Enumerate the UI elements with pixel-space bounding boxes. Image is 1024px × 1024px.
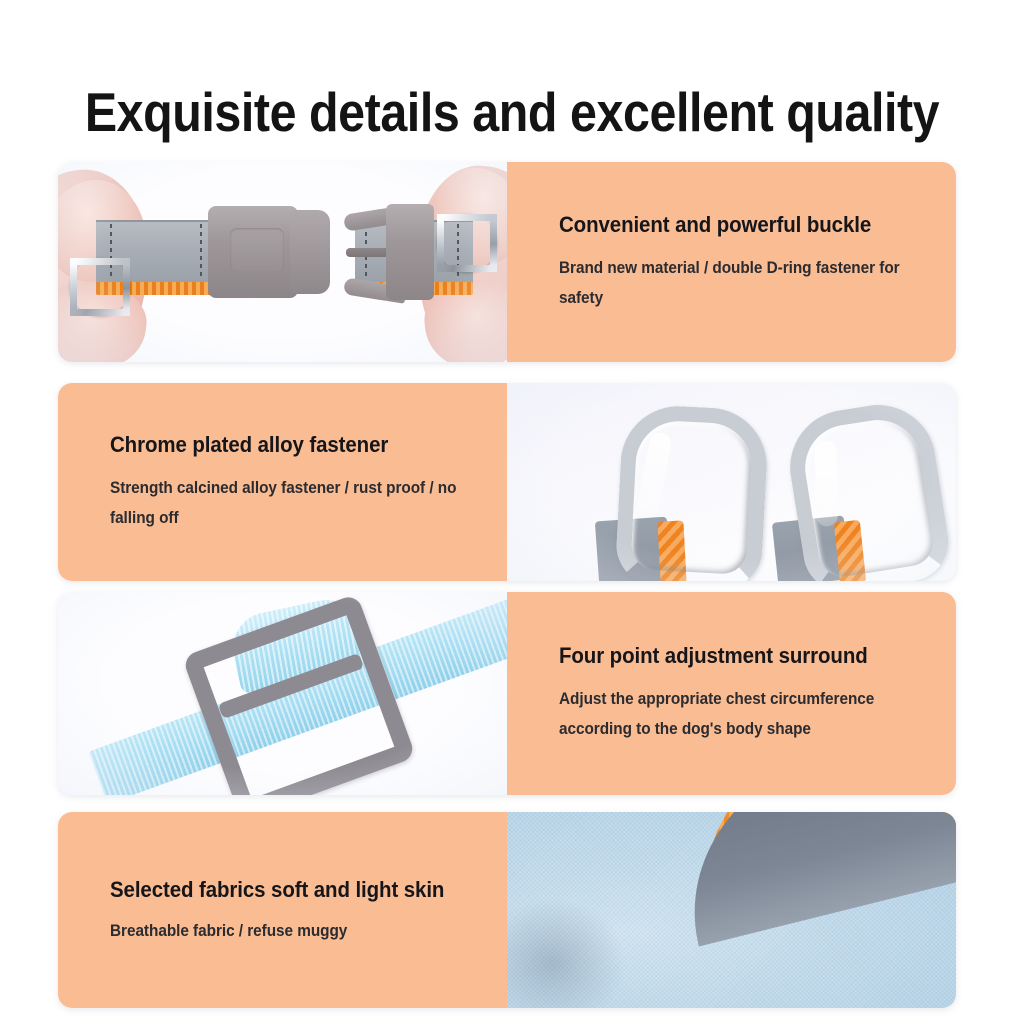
stitch-line bbox=[200, 224, 202, 278]
feature-row-fastener: Chrome plated alloy fastener Strength ca… bbox=[58, 383, 956, 581]
buckle-photo bbox=[58, 162, 507, 362]
feature-panel-buckle: Convenient and powerful buckle Brand new… bbox=[507, 162, 956, 362]
chrome-d-ring-1 bbox=[614, 403, 769, 581]
d-ring-left bbox=[70, 258, 130, 316]
feature-heading: Selected fabrics soft and light skin bbox=[110, 877, 479, 903]
buckle-male-half bbox=[208, 206, 298, 298]
product-detail-infographic: Exquisite details and excellent quality bbox=[0, 0, 1024, 1024]
feature-row-adjustment: Four point adjustment surround Adjust th… bbox=[58, 592, 956, 795]
feature-panel-adjustment: Four point adjustment surround Adjust th… bbox=[507, 592, 956, 795]
feature-row-buckle: Convenient and powerful buckle Brand new… bbox=[58, 162, 956, 362]
fabric-photo bbox=[507, 812, 956, 1008]
buckle-nose bbox=[290, 210, 330, 294]
feature-body: Brand new material / double D-ring faste… bbox=[559, 253, 928, 313]
feature-row-fabric: Selected fabrics soft and light skin Bre… bbox=[58, 812, 956, 1008]
d-ring-photo bbox=[507, 383, 956, 581]
slider-photo bbox=[58, 592, 507, 795]
feature-body: Breathable fabric / refuse muggy bbox=[110, 918, 479, 944]
feature-heading: Convenient and powerful buckle bbox=[559, 212, 928, 238]
d-ring-right bbox=[437, 214, 497, 272]
feature-heading: Four point adjustment surround bbox=[559, 643, 928, 669]
buckle-female-half bbox=[386, 204, 434, 300]
fabric-shadow bbox=[507, 898, 627, 1008]
page-title: Exquisite details and excellent quality bbox=[61, 81, 962, 143]
grey-trim-edge bbox=[663, 812, 956, 946]
feature-body: Strength calcined alloy fastener / rust … bbox=[110, 473, 479, 533]
feature-body: Adjust the appropriate chest circumferen… bbox=[559, 684, 928, 744]
feature-panel-fabric: Selected fabrics soft and light skin Bre… bbox=[58, 812, 507, 1008]
chrome-d-ring-2 bbox=[782, 397, 954, 581]
feature-heading: Chrome plated alloy fastener bbox=[110, 432, 479, 458]
tri-glide-slider bbox=[182, 593, 416, 795]
feature-panel-fastener: Chrome plated alloy fastener Strength ca… bbox=[58, 383, 507, 581]
